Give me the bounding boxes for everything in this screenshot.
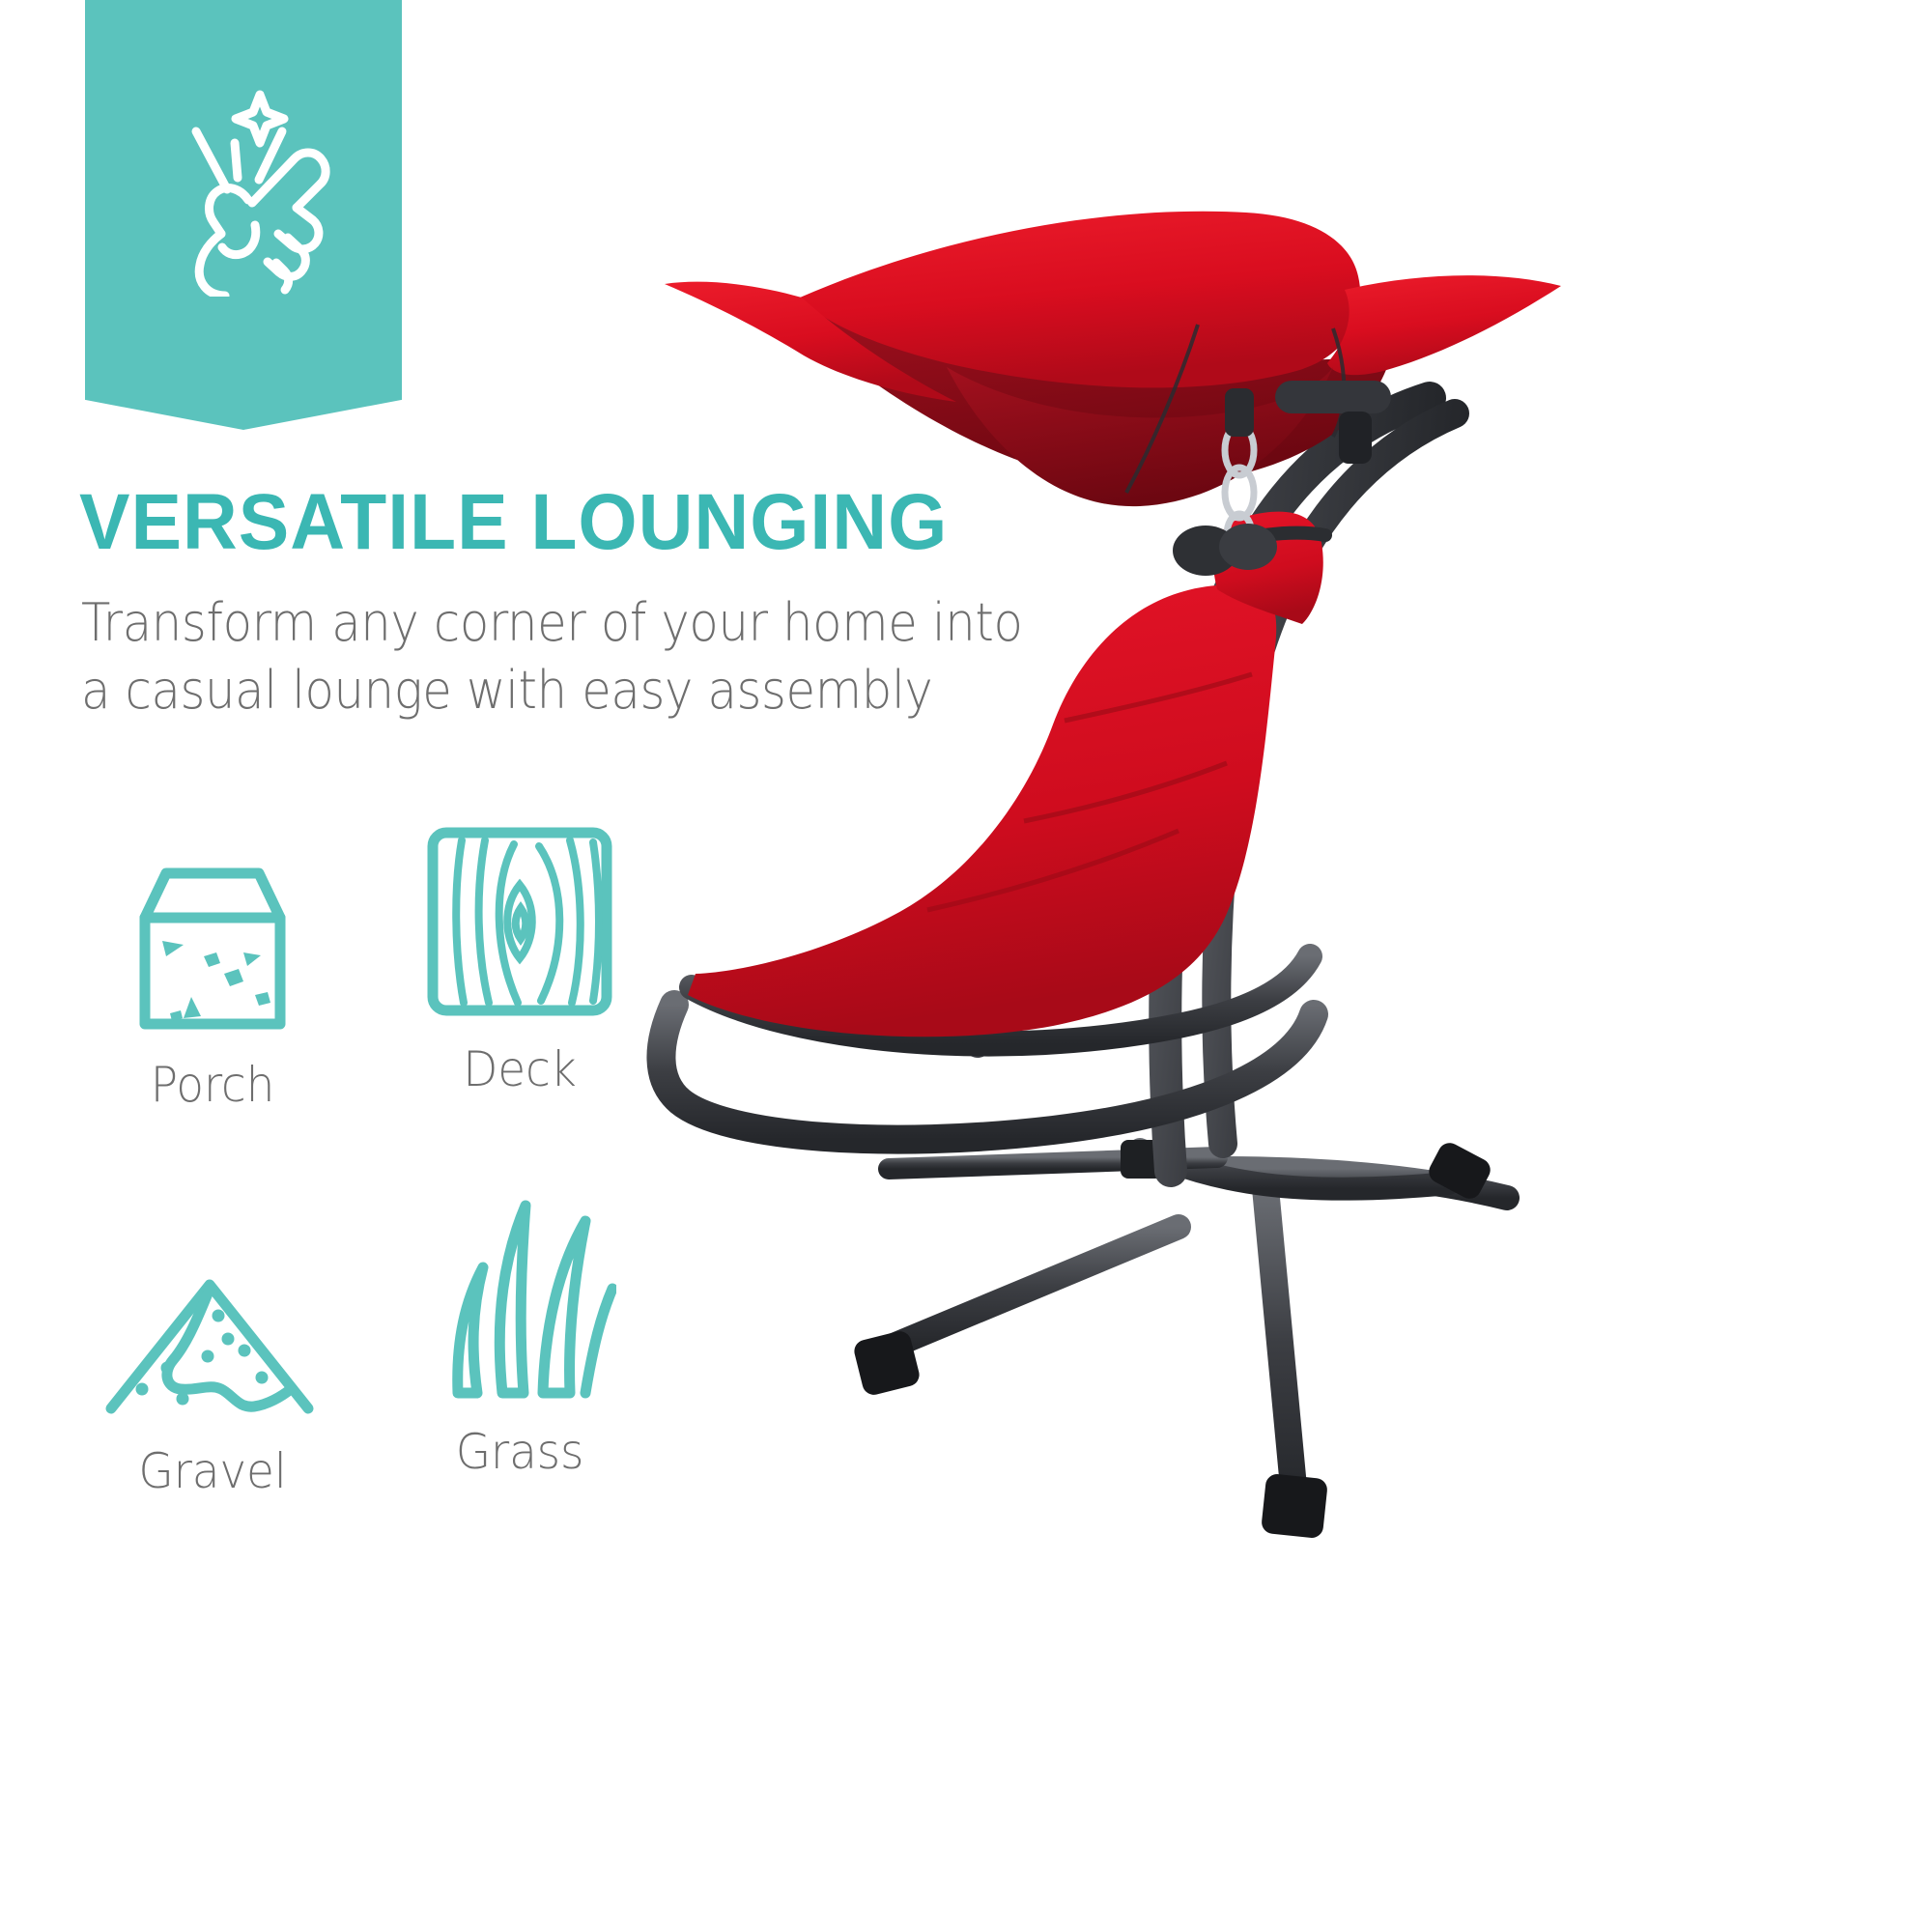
stand-feet — [852, 1139, 1494, 1539]
canopy — [665, 212, 1561, 506]
seat-cushion — [688, 584, 1276, 1037]
product-image-hanging-chaise-lounge — [599, 145, 1932, 1594]
porch-concrete-icon — [68, 811, 357, 1034]
feature-label-gravel: Gravel — [76, 1443, 349, 1499]
feature-item-porch: Porch — [68, 811, 357, 1113]
stand-legs — [889, 1150, 1507, 1497]
marketing-slide: VERSATILE LOUNGING Transform any corner … — [0, 0, 1932, 1932]
feature-badge — [85, 0, 402, 430]
feature-item-gravel: Gravel — [68, 1198, 357, 1499]
feature-label-porch: Porch — [76, 1057, 349, 1113]
surface-feature-grid: Porch Dec — [68, 811, 667, 1507]
finger-snap-icon — [152, 89, 335, 297]
gravel-pile-icon — [68, 1198, 357, 1420]
